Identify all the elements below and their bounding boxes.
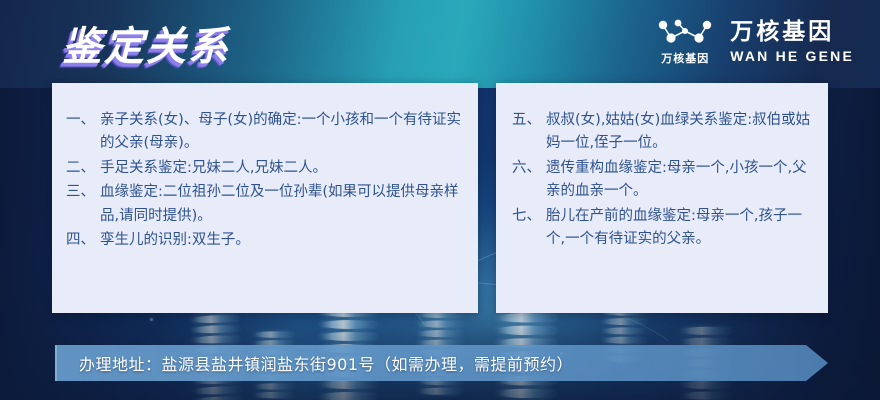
list-item-text: 手足关系鉴定:兄妹二人,兄妹二人。 bbox=[100, 157, 462, 180]
list-item: 二、 手足关系鉴定:兄妹二人,兄妹二人。 bbox=[66, 157, 462, 180]
list-item: 六、 遗传重构血缘鉴定:母亲一个,小孩一个,父亲的血亲一个。 bbox=[512, 157, 814, 204]
header-band: 鉴定关系 bbox=[0, 0, 880, 88]
list-item-number: 四、 bbox=[66, 229, 100, 252]
list-item-number: 六、 bbox=[512, 157, 546, 204]
info-list-left: 一、 亲子关系(女)、母子(女)的确定:一个小孩和一个有待证实的父亲(母亲)。 … bbox=[52, 83, 478, 264]
brand-logo: 万核基因 万核基因 WAN HE GENE bbox=[656, 18, 854, 66]
list-item-number: 二、 bbox=[66, 157, 100, 180]
list-item-text: 遗传重构血缘鉴定:母亲一个,小孩一个,父亲的血亲一个。 bbox=[546, 157, 814, 204]
address-banner-text: 办理地址：盐源县盐井镇润盐东街901号（如需办理，需提前预约） bbox=[57, 351, 573, 375]
poster-root: 鉴定关系 bbox=[0, 0, 880, 400]
list-item: 五、 叔叔(女),姑姑(女)血绿关系鉴定:叔伯或姑妈一位,侄子一位。 bbox=[512, 109, 814, 156]
list-item-text: 血缘鉴定:二位祖孙二位及一位孙辈(如果可以提供母亲样品,请同时提供)。 bbox=[100, 181, 462, 228]
list-item-text: 叔叔(女),姑姑(女)血绿关系鉴定:叔伯或姑妈一位,侄子一位。 bbox=[546, 109, 814, 156]
list-item: 七、 胎儿在产前的血缘鉴定:母亲一个,孩子一个,一个有待证实的父亲。 bbox=[512, 205, 814, 252]
address-banner: 办理地址：盐源县盐井镇润盐东街901号（如需办理，需提前预约） bbox=[55, 345, 828, 381]
list-item-text: 胎儿在产前的血缘鉴定:母亲一个,孩子一个,一个有待证实的父亲。 bbox=[546, 205, 814, 252]
brand-name-cn: 万核基因 bbox=[730, 20, 854, 45]
list-item-number: 三、 bbox=[66, 181, 100, 228]
brand-name-en: WAN HE GENE bbox=[730, 48, 854, 64]
list-item: 三、 血缘鉴定:二位祖孙二位及一位孙辈(如果可以提供母亲样品,请同时提供)。 bbox=[66, 181, 462, 228]
list-item-number: 一、 bbox=[66, 109, 100, 156]
info-list-right: 五、 叔叔(女),姑姑(女)血绿关系鉴定:叔伯或姑妈一位,侄子一位。 六、 遗传… bbox=[496, 83, 828, 263]
info-panel-right: 五、 叔叔(女),姑姑(女)血绿关系鉴定:叔伯或姑妈一位,侄子一位。 六、 遗传… bbox=[496, 83, 828, 313]
list-item-text: 孪生儿的识别:双生子。 bbox=[100, 229, 462, 252]
brand-name-block: 万核基因 WAN HE GENE bbox=[730, 20, 854, 63]
page-title: 鉴定关系 bbox=[62, 14, 230, 72]
info-panel-left: 一、 亲子关系(女)、母子(女)的确定:一个小孩和一个有待证实的父亲(母亲)。 … bbox=[52, 83, 478, 313]
list-item-number: 七、 bbox=[512, 205, 546, 252]
logo-mark-caption: 万核基因 bbox=[661, 50, 709, 66]
list-item: 一、 亲子关系(女)、母子(女)的确定:一个小孩和一个有待证实的父亲(母亲)。 bbox=[66, 109, 462, 156]
list-item: 四、 孪生儿的识别:双生子。 bbox=[66, 229, 462, 252]
molecule-network-icon: 万核基因 bbox=[656, 18, 714, 66]
list-item-text: 亲子关系(女)、母子(女)的确定:一个小孩和一个有待证实的父亲(母亲)。 bbox=[100, 109, 462, 156]
list-item-number: 五、 bbox=[512, 109, 546, 156]
